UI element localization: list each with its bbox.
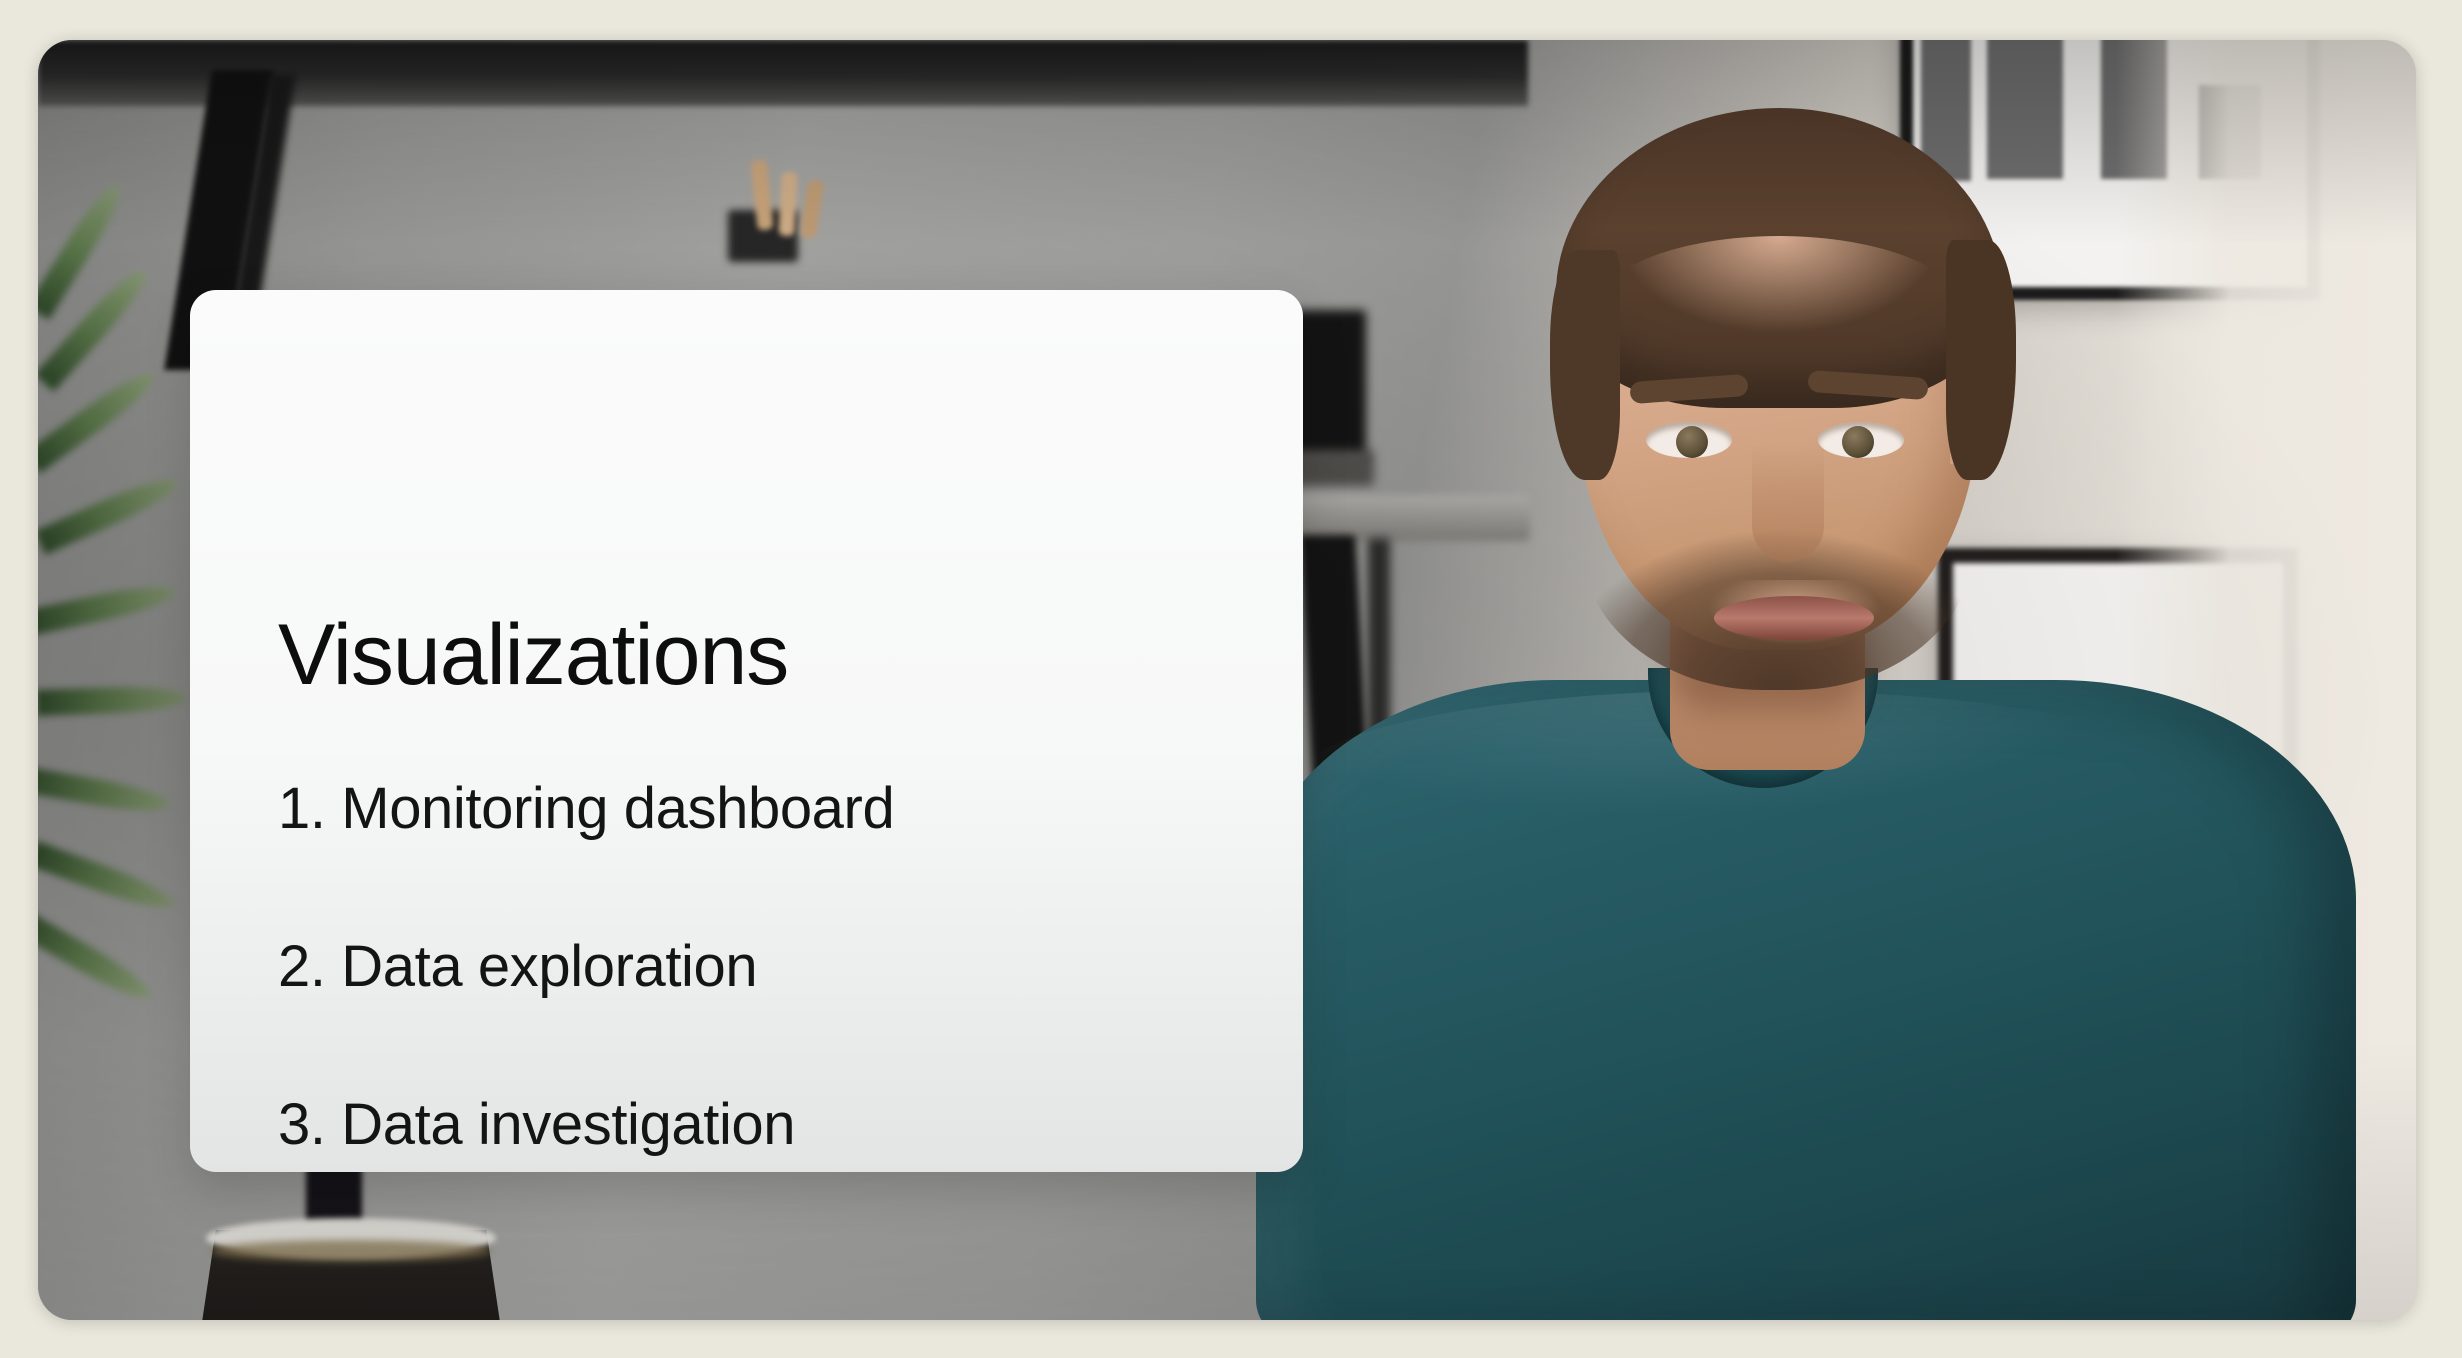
- presenter-iris-left: [1676, 426, 1708, 458]
- presenter-mouth: [1714, 596, 1874, 640]
- list-item: 1. Monitoring dashboard: [278, 780, 1238, 838]
- presenter-hair: [1556, 108, 2002, 408]
- presenter: [1178, 40, 2416, 1320]
- page-root: Visualizations 1. Monitoring dashboard 2…: [0, 0, 2462, 1358]
- video-player-frame[interactable]: Visualizations 1. Monitoring dashboard 2…: [38, 40, 2416, 1320]
- list-item: 3. Data investigation: [278, 1096, 1238, 1154]
- list-item: 2. Data exploration: [278, 938, 1238, 996]
- slide-title: Visualizations: [278, 612, 788, 698]
- slide-list: 1. Monitoring dashboard 2. Data explorat…: [278, 780, 1238, 1154]
- slide-overlay-card: Visualizations 1. Monitoring dashboard 2…: [190, 290, 1303, 1172]
- presenter-nose: [1752, 444, 1824, 562]
- presenter-iris-right: [1842, 426, 1874, 458]
